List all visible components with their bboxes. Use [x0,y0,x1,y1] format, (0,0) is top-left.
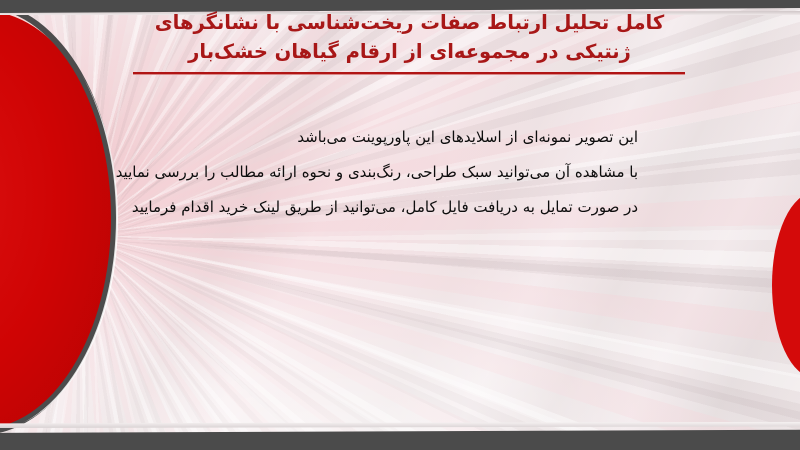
presentation-slide: کامل تحلیل ارتباط صفات ریخت‌شناسی با نشا… [0,0,800,450]
title-underline-rule [133,72,685,75]
body-line-3: در صورت تمایل به دریافت فایل کامل، می‌تو… [118,190,638,225]
body-line-1: این تصویر نمونه‌ای از اسلایدهای این پاور… [118,120,638,155]
body-line-2: با مشاهده آن می‌توانید سبک طراحی، رنگ‌بن… [118,155,638,190]
slide-title: کامل تحلیل ارتباط صفات ریخت‌شناسی با نشا… [133,8,686,66]
background-glow [0,0,800,450]
slide-title-line-1: کامل تحلیل ارتباط صفات ریخت‌شناسی با نشا… [133,8,686,37]
slide-title-line-2: ژنتیکی در مجموعه‌ای از ارقام گیاهان خشک‌… [133,37,686,66]
slide-body: این تصویر نمونه‌ای از اسلایدهای این پاور… [118,120,638,225]
